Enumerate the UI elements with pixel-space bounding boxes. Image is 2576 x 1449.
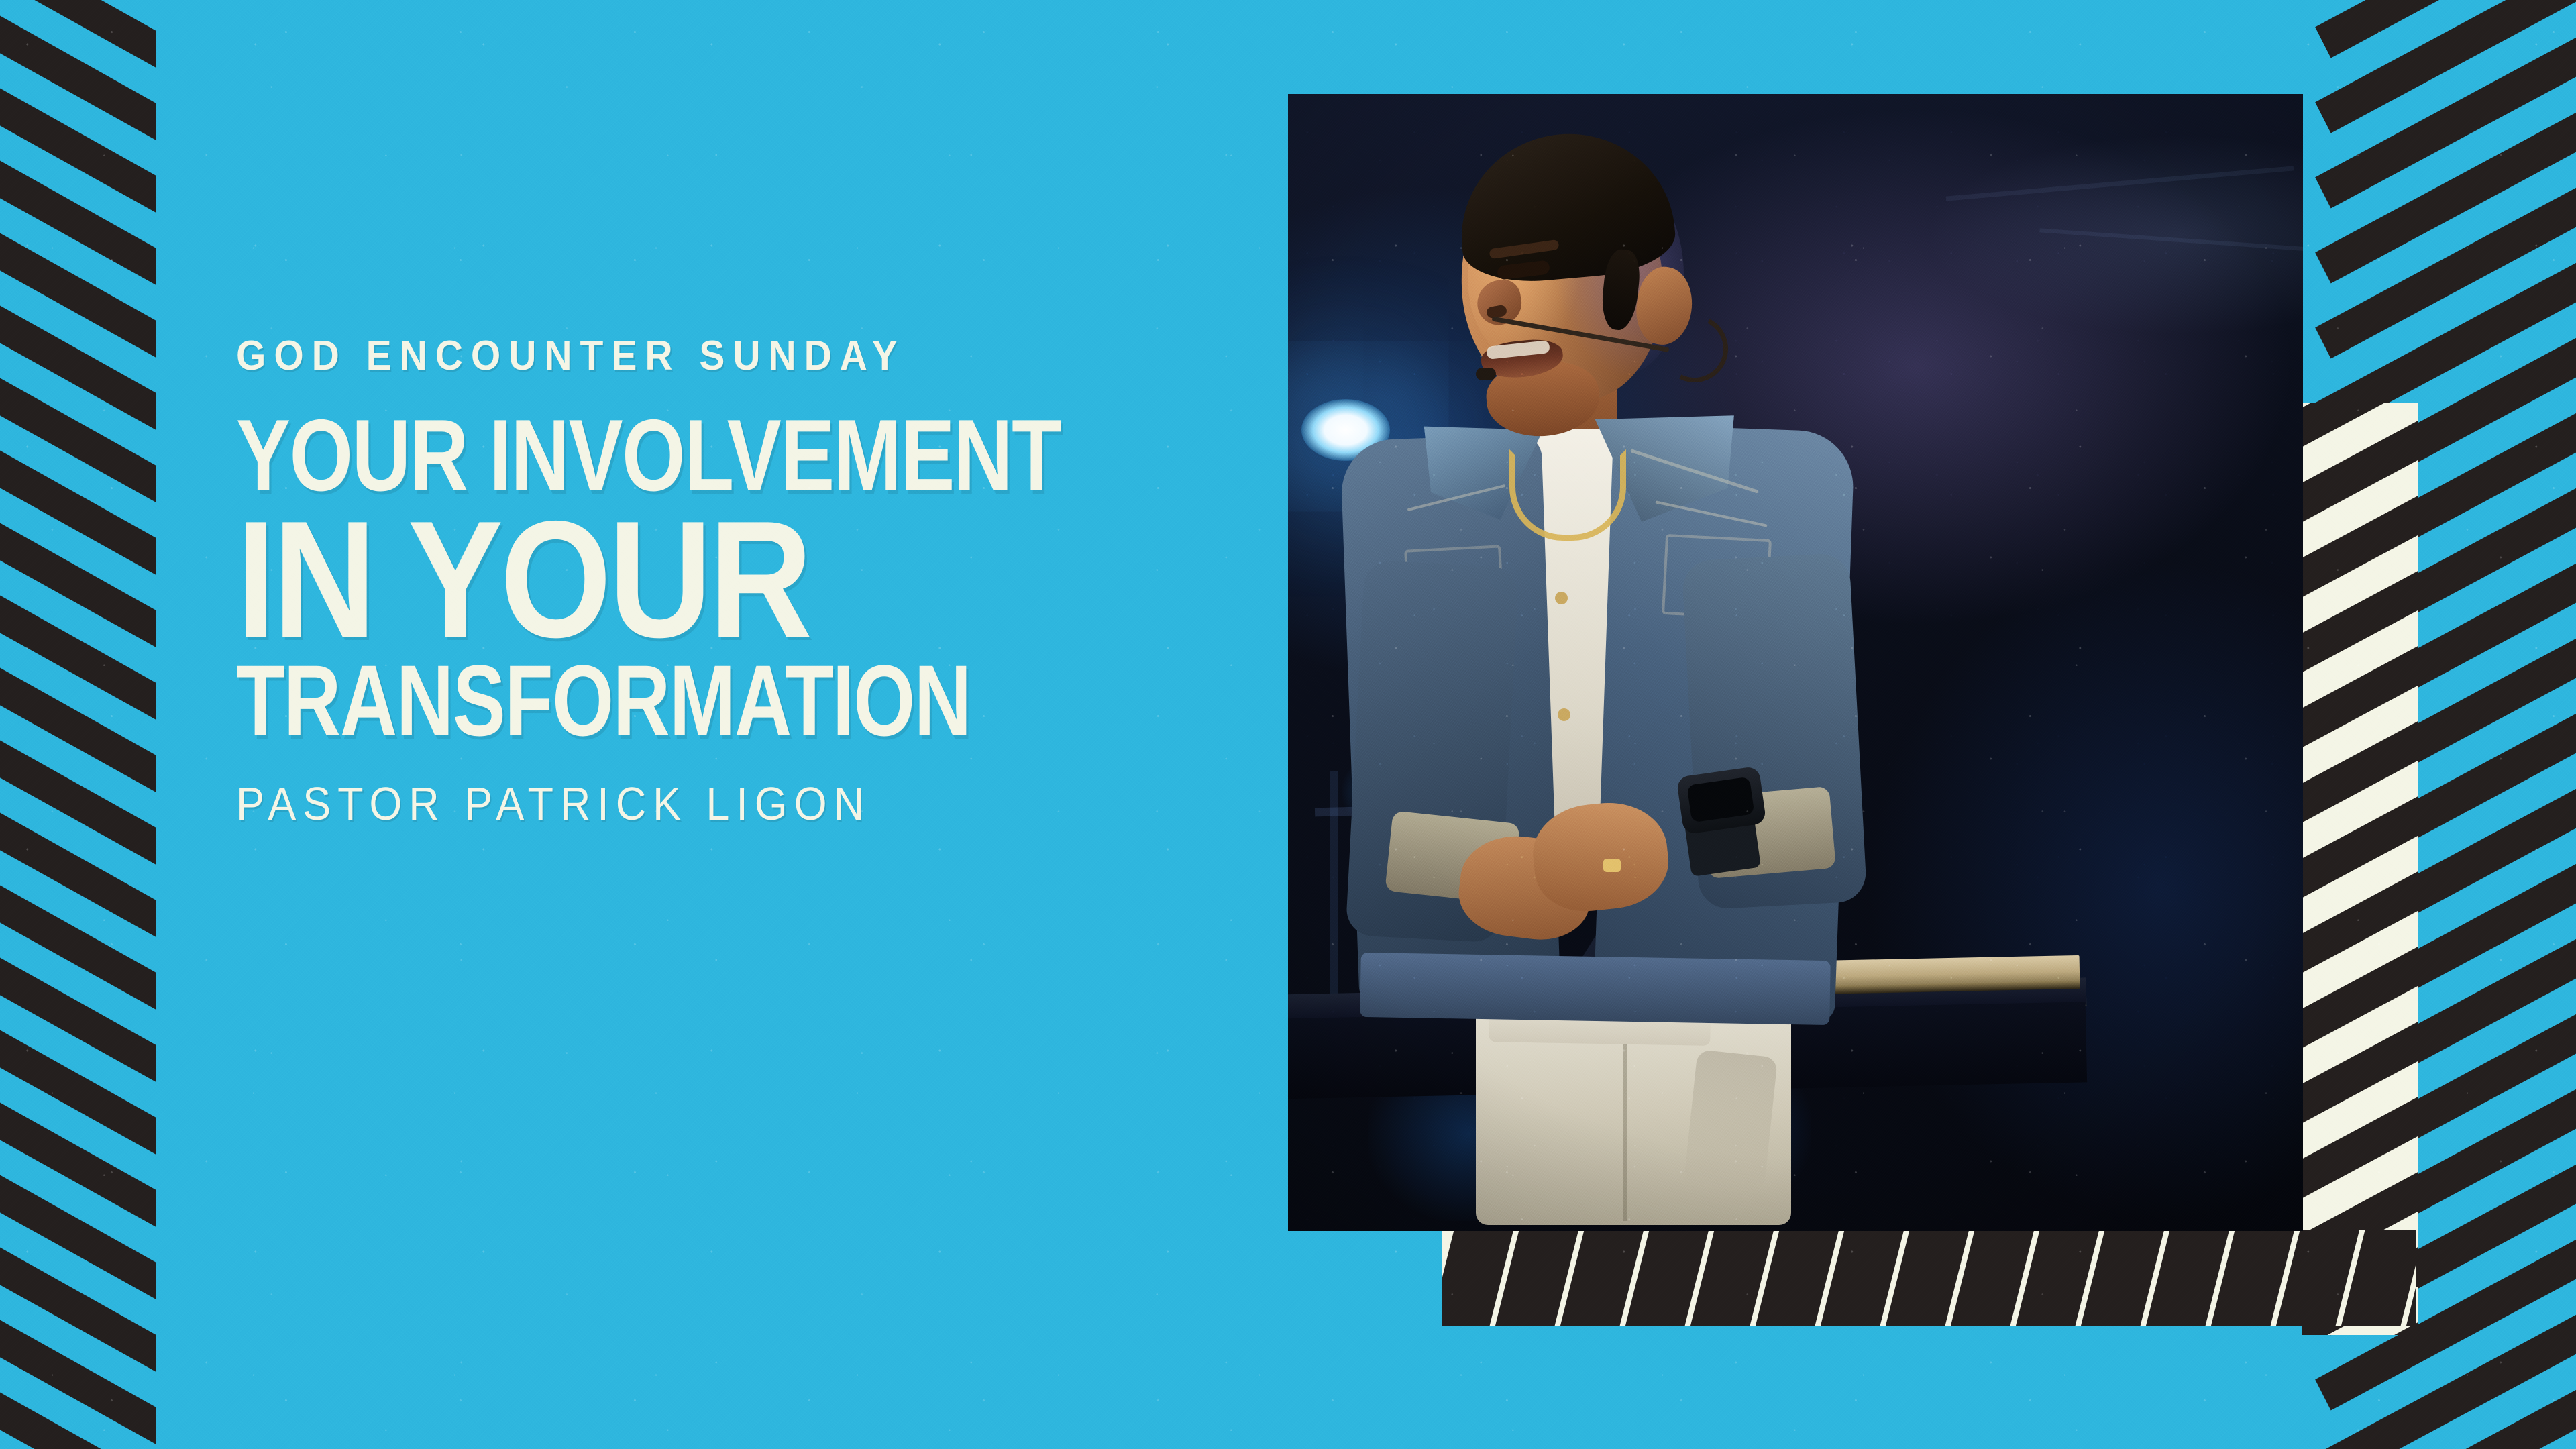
jacket-button bbox=[1558, 708, 1570, 721]
headline-line-3: TRANSFORMATION bbox=[236, 657, 1020, 744]
jacket-button bbox=[1555, 592, 1568, 604]
flyer-canvas: GOD ENCOUNTER SUNDAY YOUR INVOLVEMENT IN… bbox=[0, 0, 2576, 1449]
jeans bbox=[1623, 1020, 1627, 1221]
headline-line-2: IN YOUR bbox=[236, 508, 1090, 651]
hair bbox=[1453, 125, 1678, 288]
headset-microphone bbox=[1476, 368, 1496, 380]
bottom-cream-stripe-plate bbox=[1442, 1230, 2416, 1326]
speaker-credit: PASTOR PATRICK LIGON bbox=[236, 780, 1130, 827]
ring bbox=[1603, 859, 1621, 872]
copy-block: GOD ENCOUNTER SUNDAY YOUR INVOLVEMENT IN… bbox=[236, 335, 1229, 827]
eyebrow-text: GOD ENCOUNTER SUNDAY bbox=[236, 335, 1150, 377]
jeans bbox=[1684, 1049, 1778, 1191]
left-stripe-border bbox=[0, 0, 156, 1449]
right-cream-stripe-plate bbox=[2302, 402, 2418, 1335]
speaker-photo bbox=[1288, 94, 2303, 1231]
denim-jacket bbox=[1360, 953, 1831, 1025]
